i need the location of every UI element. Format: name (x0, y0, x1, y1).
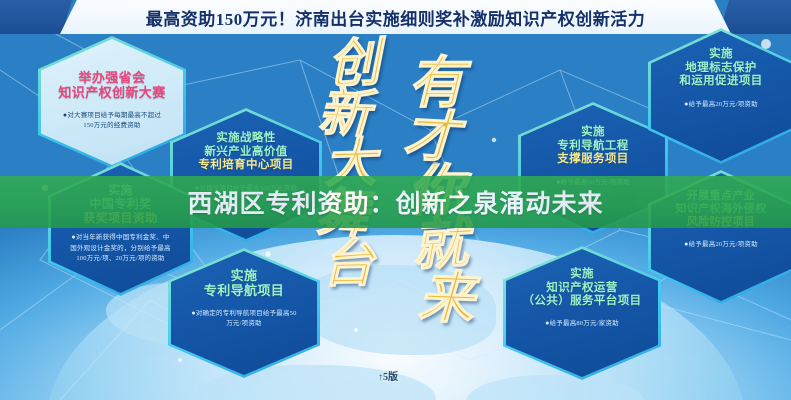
calligraphy-char: 有 (408, 58, 464, 112)
card-title-line: 实施 (231, 268, 258, 283)
card-title-line: 地理标志保护 (685, 62, 756, 74)
card-description-text: 给予最高80万元/家资助 (550, 320, 619, 327)
card-description-text: 对大赛项目给予每期最高不超过150万元的经费资助 (67, 112, 161, 129)
card-title-line: 知识产权运营 (546, 282, 617, 294)
card-title: 实施 专利导航工程 支撑服务项目 (557, 126, 628, 167)
card-title: 实施战略性 新兴产业高价值 专利培育中心项目 (198, 132, 293, 173)
calligraphy-char: 才 (402, 110, 461, 167)
card-title-line: 专利导航项目 (204, 283, 284, 298)
card-description-text: 给予最高20万元/项资助 (689, 101, 758, 108)
calligraphy-char: 台 (322, 239, 375, 290)
card-description-text: 对确定的专利导航项目给予最高50万元/项资助 (196, 310, 297, 327)
card-description-text: 对当年新获得中国专利金奖、中国外观设计金奖的，分别给予最高100万元/项、20万… (70, 234, 171, 261)
card-title-line: 知识产权创新大赛 (58, 85, 165, 100)
card-description: ●给予最高20万元/项资助 (664, 99, 779, 110)
card-description: ●对大赛项目给予每期最高不超过150万元的经费资助 (38, 110, 186, 131)
card-description: ●给予最高80万元/家资助 (523, 318, 641, 329)
card-title: 实施 专利导航项目 (204, 268, 284, 299)
green-overlay-banner: 西湖区专利资助：创新之泉涌动未来 (0, 176, 791, 228)
card-title: 举办强省会 知识产权创新大赛 (58, 70, 165, 101)
card-title: 实施 知识产权运营 （公共）服务平台项目 (523, 268, 642, 309)
card-title-line: 实施 (570, 268, 594, 280)
overlay-title-text: 西湖区专利资助：创新之泉涌动未来 (187, 184, 603, 220)
card-title-line: 实施战略性 (216, 132, 276, 144)
card-description: ●对确定的专利导航项目给予最高50万元/项资助 (168, 308, 320, 329)
card-description-text: 给予最高20万元/项资助 (689, 241, 758, 248)
card-innovation-contest[interactable]: 举办强省会 知识产权创新大赛 ●对大赛项目给予每期最高不超过150万元的经费资助 (38, 36, 186, 168)
page-reference-marker: ↑5版 (378, 368, 398, 383)
top-ribbon: 最高资助150万元！济南出台实施细则奖补激励知识产权创新活力 (0, 0, 791, 34)
card-title-line: 和运用促进项目 (679, 75, 762, 87)
card-title-line: 支撑服务项目 (557, 153, 628, 165)
card-description: ●给予最高20万元/项资助 (664, 239, 779, 250)
card-title: 实施 地理标志保护 和运用促进项目 (679, 48, 762, 89)
card-title-line: （公共）服务平台项目 (523, 295, 642, 307)
card-title-line: 实施 (709, 48, 733, 60)
calligraphy-char: 新 (317, 89, 371, 141)
card-title-line: 新兴产业高价值 (204, 146, 287, 158)
calligraphy-char: 创 (327, 39, 382, 92)
banner-headline: 最高资助150万元！济南出台实施细则奖补激励知识产权创新活力 (0, 0, 791, 34)
card-description: ●对当年新获得中国专利金奖、中国外观设计金奖的，分别给予最高100万元/项、20… (48, 232, 193, 263)
calligraphy-char: 来 (417, 272, 475, 328)
card-title-line: 专利培育中心项目 (198, 159, 293, 171)
poster-image: 最高资助150万元！济南出台实施细则奖补激励知识产权创新活力 举办强省会 知识产… (0, 0, 791, 400)
card-title-line: 举办强省会 (78, 70, 145, 85)
card-title-line: 实施 (581, 126, 605, 138)
card-geographical-indication-protection[interactable]: 实施 地理标志保护 和运用促进项目 ●给予最高20万元/项资助 (648, 28, 791, 164)
card-title-line: 专利导航工程 (557, 140, 628, 152)
calligraphy-left-column: 创 新 大 舞 台 (322, 40, 374, 290)
